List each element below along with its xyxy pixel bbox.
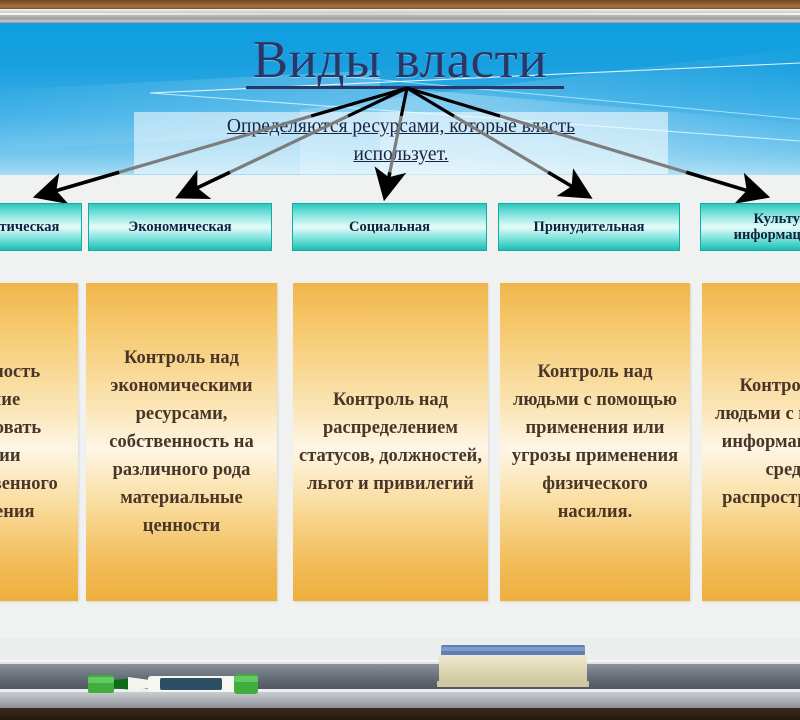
category-box-cultural-info[interactable]: Культурно-информационная xyxy=(700,203,800,251)
card-economic[interactable]: Контроль над экономическими ресурсами, с… xyxy=(86,283,277,601)
card-text: Возможность влияние использовать санкции… xyxy=(0,358,78,526)
card-text: Контроль над экономическими ресурсами, с… xyxy=(86,344,277,540)
subtitle-line-2: использует. xyxy=(353,144,448,165)
desk-surface xyxy=(0,708,800,720)
category-label: Экономическая xyxy=(124,219,235,235)
title-underline xyxy=(246,86,564,89)
subtitle-line-1: Определяются ресурсами, которые власть xyxy=(227,116,575,137)
category-label: Политическая xyxy=(0,219,63,235)
board-wood-trim xyxy=(0,0,800,9)
category-box-coercive[interactable]: Принудительная xyxy=(498,203,680,251)
card-text: Контроль над людьми с помощью применения… xyxy=(500,358,690,526)
card-cultural-info[interactable]: Контроль над людьми с помощью информацио… xyxy=(702,283,800,601)
page-title: Виды власти xyxy=(0,32,800,88)
card-coercive[interactable]: Контроль над людьми с помощью применения… xyxy=(500,283,690,601)
subtitle-text: Определяются ресурсами, которые власть и… xyxy=(134,113,668,169)
category-box-social[interactable]: Социальная xyxy=(292,203,487,251)
card-social[interactable]: Контроль над распределением статусов, до… xyxy=(293,283,488,601)
category-box-political[interactable]: Политическая xyxy=(0,203,82,251)
card-political[interactable]: Возможность влияние использовать санкции… xyxy=(0,283,78,601)
card-text: Контроль над людьми с помощью информацио… xyxy=(702,372,800,512)
whiteboard-eraser-icon xyxy=(437,645,589,691)
category-label: Социальная xyxy=(345,219,434,235)
category-label: Принудительная xyxy=(530,219,649,235)
board-metal-rail xyxy=(0,9,800,23)
whiteboard-marker-icon xyxy=(88,673,270,695)
card-text: Контроль над распределением статусов, до… xyxy=(293,386,488,498)
category-box-economic[interactable]: Экономическая xyxy=(88,203,272,251)
presentation-slide: Виды власти Определяются ресурсами, кото… xyxy=(0,0,800,720)
category-label: Культурно-информационная xyxy=(701,211,800,243)
